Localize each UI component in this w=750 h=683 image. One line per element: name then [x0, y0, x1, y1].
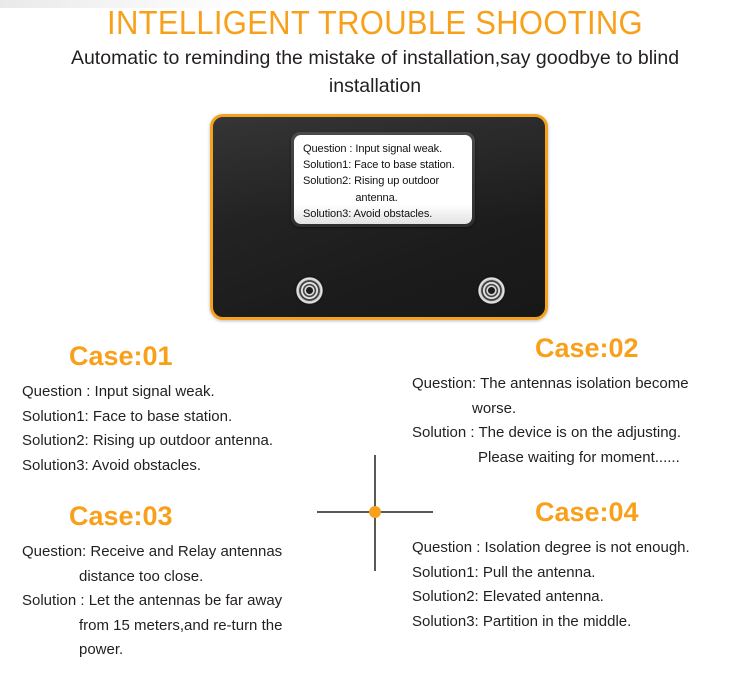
page-subtitle: Automatic to reminding the mistake of in… — [0, 44, 750, 100]
case-line: Please waiting for moment...... — [412, 446, 750, 471]
crosshair-center-dot — [369, 506, 381, 518]
lcd-line: Solution1: Face to base station. — [303, 157, 459, 173]
case-line: Question: The antennas isolation become — [412, 372, 750, 397]
case-block-02: Case:02 Question: The antennas isolation… — [412, 332, 750, 470]
case-title-03: Case:03 — [22, 500, 360, 532]
device-illustration: Question : Input signal weak.Solution1: … — [210, 114, 548, 320]
connector-left-icon — [296, 277, 323, 304]
device-body: Question : Input signal weak.Solution1: … — [210, 114, 548, 320]
case-block-01: Case:01 Question : Input signal weak.Sol… — [22, 340, 360, 478]
case-line: Solution3: Avoid obstacles. — [22, 454, 360, 479]
case-body-03: Question: Receive and Relay antennasdist… — [22, 540, 360, 663]
case-line: Solution1: Face to base station. — [22, 405, 360, 430]
case-line: distance too close. — [22, 565, 360, 590]
device-lcd-screen: Question : Input signal weak.Solution1: … — [294, 135, 472, 224]
lcd-line: Solution3: Avoid obstacles. — [303, 206, 459, 222]
case-body-01: Question : Input signal weak.Solution1: … — [22, 380, 360, 478]
case-line: Solution : The device is on the adjustin… — [412, 421, 750, 446]
case-title-04: Case:04 — [412, 496, 750, 528]
case-line: Solution2: Elevated antenna. — [412, 585, 750, 610]
page-title: INTELLIGENT TROUBLE SHOOTING — [23, 4, 728, 42]
case-line: Question: Receive and Relay antennas — [22, 540, 360, 565]
page-header: INTELLIGENT TROUBLE SHOOTING Automatic t… — [0, 4, 750, 100]
case-title-02: Case:02 — [412, 332, 750, 364]
case-line: Solution2: Rising up outdoor antenna. — [22, 429, 360, 454]
case-line: from 15 meters,and re-turn the — [22, 614, 360, 639]
case-body-02: Question: The antennas isolation becomew… — [412, 372, 750, 470]
case-line: Solution1: Pull the antenna. — [412, 561, 750, 586]
lcd-line: Question : Input signal weak. — [303, 141, 459, 157]
case-line: Solution : Let the antennas be far away — [22, 589, 360, 614]
lcd-line: Solution2: Rising up outdoor — [303, 173, 459, 189]
case-line: Question : Input signal weak. — [22, 380, 360, 405]
case-body-04: Question : Isolation degree is not enoug… — [412, 536, 750, 634]
connector-right-icon — [478, 277, 505, 304]
case-line: Question : Isolation degree is not enoug… — [412, 536, 750, 561]
case-title-01: Case:01 — [22, 340, 360, 372]
case-block-03: Case:03 Question: Receive and Relay ante… — [22, 500, 360, 663]
lcd-line: antenna. — [303, 190, 459, 206]
case-line: Solution3: Partition in the middle. — [412, 610, 750, 635]
device-lcd-bezel: Question : Input signal weak.Solution1: … — [291, 132, 475, 227]
case-line: worse. — [412, 397, 750, 422]
case-line: power. — [22, 638, 360, 663]
case-block-04: Case:04 Question : Isolation degree is n… — [412, 496, 750, 634]
